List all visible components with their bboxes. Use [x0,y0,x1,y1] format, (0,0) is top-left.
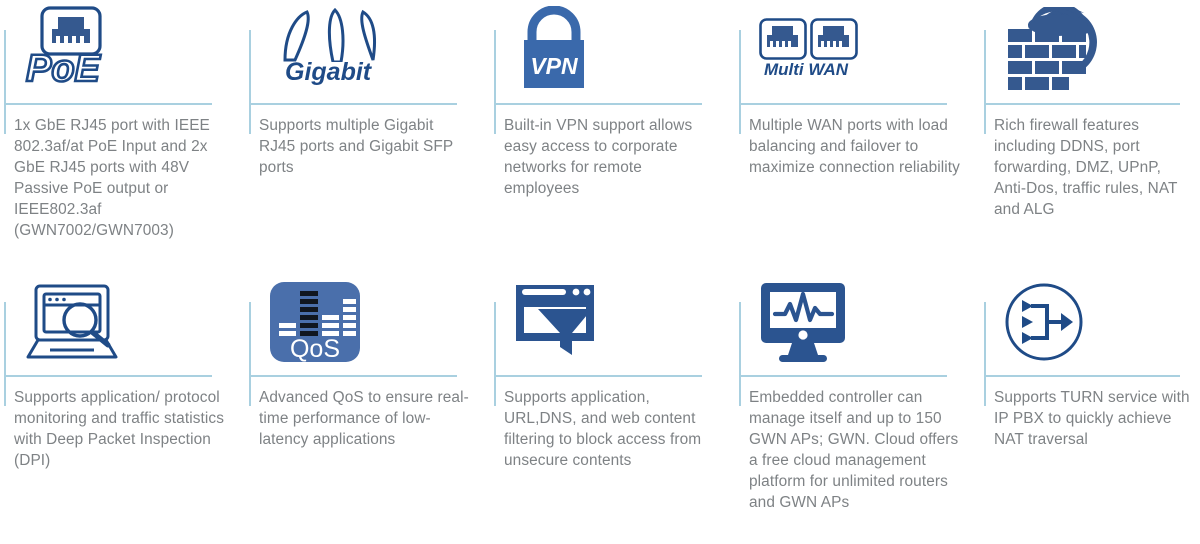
svg-text:VPN: VPN [530,53,578,79]
feature-grid: PoE 1x GbE RJ45 port with IEEE 802.3af/a… [0,0,1200,544]
divider-vertical [494,302,496,406]
icon-area [994,272,1200,372]
gigabit-icon: Gigabit [269,4,389,96]
feature-description: 1x GbE RJ45 port with IEEE 802.3af/at Po… [14,115,226,241]
divider-horizontal [739,103,947,105]
icon-area [14,272,224,372]
turn-nat-traversal-icon [1004,282,1084,362]
divider-vertical [984,302,986,406]
divider-vertical [739,30,741,134]
divider-horizontal [4,103,212,105]
icon-area: QoS [259,272,469,372]
svg-text:Multi WAN: Multi WAN [764,60,849,79]
feature-card-qos: QoS Advanced QoS to ensure real-time per… [245,272,490,544]
embedded-controller-monitor-icon [759,281,847,363]
feature-description: Advanced QoS to ensure real-time perform… [259,387,471,450]
icon-area: VPN [504,0,714,100]
feature-card-firewall: Rich firewall features including DDNS, p… [980,0,1200,272]
gigabit-wordmark-icon: Gigabit [283,54,391,88]
divider-horizontal [984,375,1180,377]
divider-horizontal [249,375,457,377]
feature-card-embedded-controller: Embedded controller can manage itself an… [735,272,980,544]
feature-card-dpi: Supports application/ protocol monitorin… [0,272,245,544]
divider-horizontal [4,375,212,377]
icon-area: Multi WAN [749,0,959,100]
feature-card-poe: PoE 1x GbE RJ45 port with IEEE 802.3af/a… [0,0,245,272]
icon-area [504,272,714,372]
feature-row-1: PoE 1x GbE RJ45 port with IEEE 802.3af/a… [0,0,1200,272]
feature-description: Embedded controller can manage itself an… [749,387,961,513]
vpn-lock-icon: VPN [514,6,594,94]
feature-card-turn: Supports TURN service with IP PBX to qui… [980,272,1200,544]
feature-card-multi-wan: Multi WAN Multiple WAN ports with load b… [735,0,980,272]
feature-description: Supports application/ protocol monitorin… [14,387,226,471]
divider-horizontal [494,375,702,377]
dpi-laptop-magnifier-icon [24,283,124,361]
icon-area: PoE [14,0,224,100]
qos-equalizer-icon: QoS [269,281,361,363]
feature-description: Built-in VPN support allows easy access … [504,115,716,199]
brick-wall-part [1008,29,1086,90]
content-filter-funnel-icon [514,283,596,361]
divider-vertical [984,30,986,134]
dual-rj45-jacks-icon [759,18,859,60]
feature-description: Supports multiple Gigabit RJ45 ports and… [259,115,471,178]
divider-vertical [4,30,6,134]
multi-wan-wordmark-icon: Multi WAN [763,56,867,82]
poe-wordmark-icon: PoE [24,48,120,90]
icon-area: Gigabit [259,0,469,100]
svg-text:QoS: QoS [290,335,340,363]
divider-vertical [494,30,496,134]
svg-text:Gigabit: Gigabit [285,58,373,86]
feature-description: Rich firewall features including DDNS, p… [994,115,1194,220]
feature-card-vpn: VPN Built-in VPN support allows easy acc… [490,0,735,272]
feature-description: Supports TURN service with IP PBX to qui… [994,387,1194,450]
icon-area [994,0,1200,100]
divider-horizontal [984,103,1180,105]
feature-card-gigabit: Gigabit Supports multiple Gigabit RJ45 p… [245,0,490,272]
divider-vertical [249,302,251,406]
poe-port-icon: PoE [24,4,116,96]
icon-area [749,272,959,372]
feature-card-content-filtering: Supports application, URL,DNS, and web c… [490,272,735,544]
feature-row-2: Supports application/ protocol monitorin… [0,272,1200,544]
svg-text:PoE: PoE [26,48,102,90]
firewall-icon [1004,7,1100,93]
feature-description: Supports application, URL,DNS, and web c… [504,387,716,471]
divider-horizontal [494,103,702,105]
divider-vertical [739,302,741,406]
divider-horizontal [249,103,457,105]
divider-vertical [4,302,6,406]
feature-description: Multiple WAN ports with load balancing a… [749,115,961,178]
divider-vertical [249,30,251,134]
multi-wan-icon: Multi WAN [759,4,863,96]
divider-horizontal [739,375,947,377]
